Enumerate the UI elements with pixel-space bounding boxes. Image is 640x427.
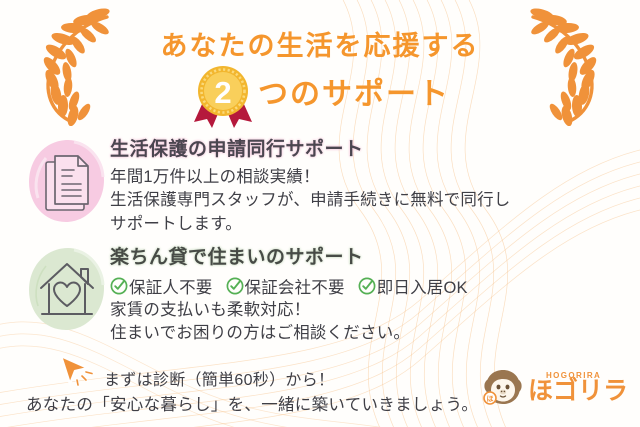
check-item-1: 保証人不要 <box>110 274 213 298</box>
check-item-3: 即日入居OK <box>358 274 468 298</box>
section-1-text: 年間1万件以上の相談実績！ 生活保護専門スタッフが、申請手続きに無料で同行し サ… <box>110 166 624 236</box>
hogorira-logo[interactable]: ほ HOGORIRA ほゴリラ <box>482 368 628 408</box>
check-label-1: 保証人不要 <box>129 274 213 298</box>
check-item-2: 保証会社不要 <box>226 274 345 298</box>
check-circle-icon <box>226 277 244 295</box>
logo-kana: ほゴリラ <box>528 378 628 404</box>
footer-text-line-2: あなたの「安心な暮らし」を、一緒に築いていきましょう。 <box>26 391 478 415</box>
feature-check-row: 保証人不要 保証会社不要 即日入居OK <box>110 274 624 298</box>
banner-header: あなたの生活を応援する 2 つのサポート <box>0 0 640 128</box>
section-1-body: 生活保護の申請同行サポート 年間1万件以上の相談実績！ 生活保護専門スタッフが、… <box>110 136 624 236</box>
section-2-body: 楽ちん貸で住まいのサポート 保証人不要 保証会社不要 <box>110 244 624 346</box>
section-2-line-2: 住まいでお困りの方はご相談ください。 <box>110 322 624 345</box>
footer-text-line-1: まずは診断（簡単60秒）から！ <box>104 366 334 390</box>
banner-footer: まずは診断（簡単60秒）から！ あなたの「安心な暮らし」を、一緒に築いていきまし… <box>0 352 640 427</box>
logo-wordmark: HOGORIRA ほゴリラ <box>528 371 628 404</box>
section-1-line-3: サポートします。 <box>110 213 624 236</box>
headline-line-2-row: 2 つのサポート <box>0 62 640 128</box>
gorilla-mascot-icon: ほ <box>482 368 524 408</box>
check-label-2: 保証会社不要 <box>245 274 345 298</box>
section-2-heading: 楽ちん貸で住まいのサポート <box>110 246 624 270</box>
support-section-2: 楽ちん貸で住まいのサポート 保証人不要 保証会社不要 <box>24 244 624 346</box>
promo-banner: あなたの生活を応援する 2 つのサポート <box>0 0 640 427</box>
click-cursor-icon <box>56 354 98 390</box>
medal-badge: 2 <box>190 62 256 128</box>
house-heart-icon <box>24 244 110 336</box>
medal-number: 2 <box>214 75 231 110</box>
document-stack-icon <box>24 136 110 228</box>
svg-text:ほ: ほ <box>486 395 493 403</box>
headline-line-2: つのサポート <box>258 69 450 113</box>
section-2-line-1: 家賃の支払いも柔軟対応！ <box>110 299 624 322</box>
section-2-text: 家賃の支払いも柔軟対応！ 住まいでお困りの方はご相談ください。 <box>110 299 624 346</box>
section-1-line-2: 生活保護専門スタッフが、申請手続きに無料で同行し <box>110 189 624 212</box>
check-label-3: 即日入居OK <box>377 274 468 298</box>
check-circle-icon <box>110 277 128 295</box>
check-circle-icon <box>358 277 376 295</box>
support-section-1: 生活保護の申請同行サポート 年間1万件以上の相談実績！ 生活保護専門スタッフが、… <box>24 136 624 236</box>
section-1-line-1: 年間1万件以上の相談実績！ <box>110 166 624 189</box>
headline-line-1: あなたの生活を応援する <box>0 24 640 63</box>
section-1-heading: 生活保護の申請同行サポート <box>110 138 624 162</box>
